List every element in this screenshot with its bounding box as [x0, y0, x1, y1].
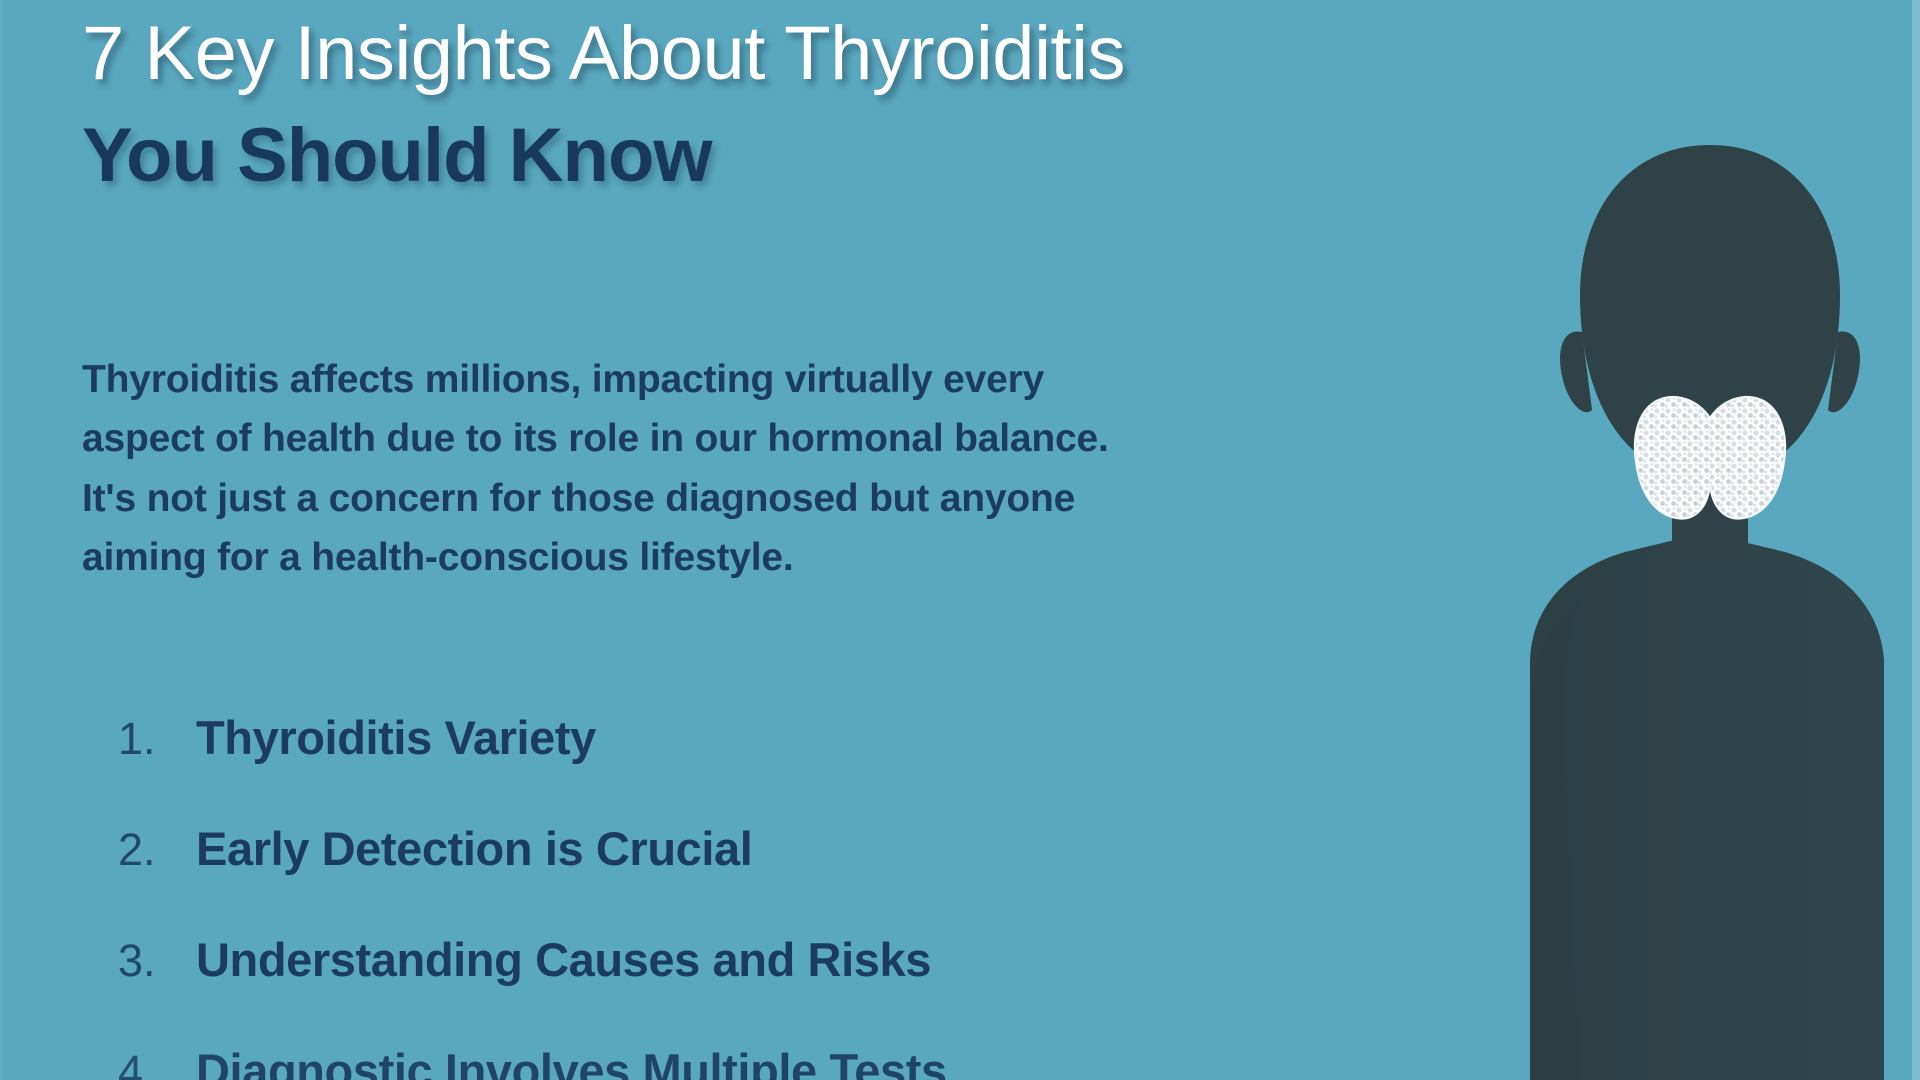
headline-block: 7 Key Insights About Thyroiditis You Sho…	[82, 14, 1262, 196]
list-item[interactable]: 2. Early Detection is Crucial	[118, 821, 1278, 876]
headline-line-2: You Should Know	[82, 116, 1262, 196]
insight-label: Diagnostic Involves Multiple Tests	[196, 1043, 947, 1080]
insight-number: 3.	[118, 935, 196, 987]
text-content-column: 7 Key Insights About Thyroiditis You Sho…	[0, 0, 1280, 1080]
right-edge-strip	[1912, 0, 1920, 1080]
insight-number: 2.	[118, 824, 196, 876]
intro-line-4: aiming for a health-conscious lifestyle.	[82, 528, 1202, 587]
intro-line-3: It's not just a concern for those diagno…	[82, 469, 1202, 528]
torso-shape	[1530, 540, 1884, 1080]
insight-label: Understanding Causes and Risks	[196, 932, 931, 987]
left-edge-strip	[0, 0, 3, 1080]
intro-line-2: aspect of health due to its role in our …	[82, 409, 1202, 468]
insight-number: 1.	[118, 713, 196, 765]
insight-label: Early Detection is Crucial	[196, 821, 752, 876]
insight-label: Thyroiditis Variety	[196, 710, 596, 765]
intro-line-1: Thyroiditis affects millions, impacting …	[82, 350, 1202, 409]
insight-list: 1. Thyroiditis Variety 2. Early Detectio…	[118, 710, 1278, 1080]
human-silhouette-illustration	[1280, 100, 1920, 1080]
list-item[interactable]: 1. Thyroiditis Variety	[118, 710, 1278, 765]
headline-line-1: 7 Key Insights About Thyroiditis	[82, 14, 1262, 94]
list-item[interactable]: 4. Diagnostic Involves Multiple Tests	[118, 1043, 1278, 1080]
infographic-slide: 7 Key Insights About Thyroiditis You Sho…	[0, 0, 1920, 1080]
intro-paragraph: Thyroiditis affects millions, impacting …	[82, 350, 1202, 587]
list-item[interactable]: 3. Understanding Causes and Risks	[118, 932, 1278, 987]
insight-number: 4.	[118, 1046, 196, 1080]
